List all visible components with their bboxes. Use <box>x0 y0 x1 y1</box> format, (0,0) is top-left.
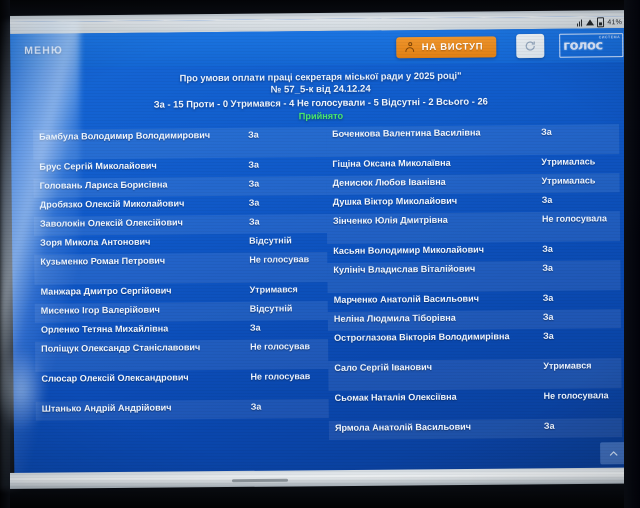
chevron-up-icon <box>608 448 619 459</box>
deputy-vote: За <box>543 311 617 323</box>
logo-subtitle: СИСТЕМА <box>599 35 620 39</box>
deputy-vote: За <box>248 129 322 141</box>
deputy-name: Неліна Людмила Тіборівна <box>334 312 543 326</box>
deputy-name: Зінченко Юлія Дмитрівна <box>333 214 542 228</box>
deputy-name: Боченкова Валентина Василівна <box>332 127 541 141</box>
deputy-vote: За <box>543 330 617 342</box>
deputy-name: Заволокін Олексій Олексійович <box>40 217 249 231</box>
deputy-vote: Не голосував <box>250 371 324 383</box>
deputy-vote: За <box>249 178 323 190</box>
logo-frame: голос СИСТЕМА <box>559 33 623 58</box>
deputy-vote: За <box>543 292 617 304</box>
home-indicator[interactable] <box>232 479 288 482</box>
deputy-vote: За <box>542 243 616 255</box>
deputy-name: Брус Сергій Миколайович <box>39 160 248 174</box>
scroll-to-top-button[interactable] <box>600 442 626 464</box>
deputy-name: Мисенко Ігор Валерійович <box>41 304 250 318</box>
request-to-speak-button[interactable]: НА ВИСТУП <box>397 36 497 58</box>
vote-results-panel: Про умови оплати праці секретаря міської… <box>10 62 634 476</box>
deputy-vote: Утримався <box>543 360 617 372</box>
deputy-name: Душка Віктор Миколайович <box>333 195 542 209</box>
deputy-name: Дробязко Олексій Миколайович <box>40 198 249 212</box>
table-row: Кулініч Владислав ВіталійовичЗа <box>327 260 620 293</box>
deputy-name: Слюсар Олексій Олександрович <box>41 372 250 386</box>
deputy-name: Головань Лариса Борисівна <box>40 179 249 193</box>
table-row: Слюсар Олексій ОлександровичНе голосував <box>35 369 328 402</box>
device-photo: 41% МЕНЮ НА ВИСТУП голос СИСТЕМА <box>0 0 640 508</box>
refresh-button[interactable] <box>516 34 544 58</box>
deputy-vote: За <box>248 159 322 171</box>
battery-percent: 41% <box>607 19 622 26</box>
deputy-vote: За <box>542 194 616 206</box>
deputy-vote: За <box>251 401 325 413</box>
signal-icon <box>577 19 583 26</box>
deputy-vote: За <box>249 197 323 209</box>
table-row: Зінченко Юлія ДмитрівнаНе голосувала <box>327 211 620 244</box>
deputy-name: Штанько Андрій Андрійович <box>42 402 251 416</box>
deputy-vote: Не голосувала <box>544 390 618 402</box>
deputy-vote: Не голосував <box>250 341 324 353</box>
deputy-vote: За <box>544 420 618 432</box>
deputy-vote: За <box>541 126 615 138</box>
photo-background-left <box>0 0 10 508</box>
request-to-speak-label: НА ВИСТУП <box>422 41 484 53</box>
refresh-icon <box>524 40 536 52</box>
deputy-name: Сьомак Наталія Олексіївна <box>335 391 544 405</box>
table-row: Бамбула Володимир ВолодимировичЗа <box>33 127 326 160</box>
deputies-table: Бамбула Володимир ВолодимировичЗаБрус Се… <box>33 124 622 443</box>
table-row: Боченкова Валентина ВасилівнаЗа <box>326 124 619 157</box>
deputies-column-left: Бамбула Володимир ВолодимировичЗаБрус Се… <box>33 127 329 443</box>
table-row: Сьомак Наталія ОлексіївнаНе голосувала <box>329 388 622 421</box>
deputy-name: Сало Сергій Іванович <box>334 361 543 375</box>
deputy-vote: Утрималась <box>542 175 616 187</box>
golos-logo: голос СИСТЕМА <box>558 32 624 59</box>
deputy-vote: За <box>249 216 323 228</box>
deputy-name: Зоря Микола Антонович <box>40 236 249 250</box>
deputy-name: Марченко Анатолій Васильович <box>334 293 543 307</box>
deputy-vote: Не голосував <box>249 254 323 266</box>
table-row: Кузьменко Роман ПетровичНе голосував <box>34 252 327 285</box>
deputy-name: Манжара Дмитро Сергійович <box>41 285 250 299</box>
table-row: Ярмола Анатолій ВасильовичЗа <box>329 418 622 440</box>
deputy-vote: За <box>542 262 616 274</box>
header-spacer <box>63 47 397 50</box>
table-row: Поліщук Олександр СтаніславовичНе голосу… <box>35 339 328 372</box>
deputy-vote: Відсутній <box>249 235 323 247</box>
wifi-icon <box>586 19 594 25</box>
deputy-name: Поліщук Олександр Станіславович <box>41 342 250 356</box>
deputies-column-right: Боченкова Валентина ВасилівнаЗаГіщіна Ок… <box>326 124 622 440</box>
person-icon <box>406 42 415 53</box>
menu-button[interactable]: МЕНЮ <box>24 44 63 56</box>
photo-background-right <box>624 0 640 508</box>
deputy-name: Орленко Тетяна Михайлівна <box>41 323 250 337</box>
tablet-screen: 41% МЕНЮ НА ВИСТУП голос СИСТЕМА <box>10 16 634 476</box>
deputy-name: Остроглазова Вікторія Володимирівна <box>334 331 543 345</box>
deputy-name: Денисюк Любов Іванівна <box>333 176 542 190</box>
table-row: Остроглазова Вікторія ВолодимирівнаЗа <box>328 328 621 361</box>
deputy-name: Кулініч Владислав Віталійович <box>333 263 542 277</box>
deputy-vote: Утримався <box>250 284 324 296</box>
logo-text: голос <box>560 39 603 52</box>
table-row: Сало Сергій ІвановичУтримався <box>328 358 621 391</box>
deputy-name: Ярмола Анатолій Васильович <box>335 421 544 435</box>
battery-icon <box>597 17 604 27</box>
table-row: Штанько Андрій АндрійовичЗа <box>36 399 329 421</box>
deputy-name: Кузьменко Роман Петрович <box>40 255 249 269</box>
deputy-vote: Утрималась <box>541 156 615 168</box>
deputy-vote: Відсутній <box>250 303 324 315</box>
deputy-name: Касьян Володимир Миколайович <box>333 244 542 258</box>
deputy-vote: За <box>250 322 324 334</box>
deputy-name: Гіщіна Оксана Миколаївна <box>332 157 541 171</box>
deputy-name: Бамбула Володимир Володимирович <box>39 130 248 144</box>
deputy-vote: Не голосувала <box>542 213 616 225</box>
